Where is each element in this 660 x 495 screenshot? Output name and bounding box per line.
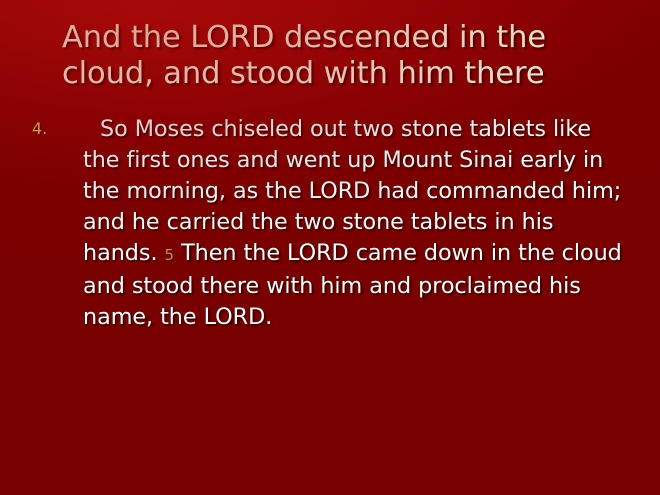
list-item: 4. So Moses chiseled out two stone table… [30,114,630,333]
presentation-slide: And the LORD descended in the cloud, and… [0,0,660,495]
verse-number: 5 [165,246,175,264]
slide-title: And the LORD descended in the cloud, and… [62,20,622,92]
list-item-text: So Moses chiseled out two stone tablets … [83,114,630,333]
slide-title-line-2: cloud, and stood with him there [62,56,622,92]
slide-title-line-1: And the LORD descended in the [62,20,622,56]
slide-body: 4. So Moses chiseled out two stone table… [30,114,630,333]
list-item-number: 4. [32,119,47,139]
